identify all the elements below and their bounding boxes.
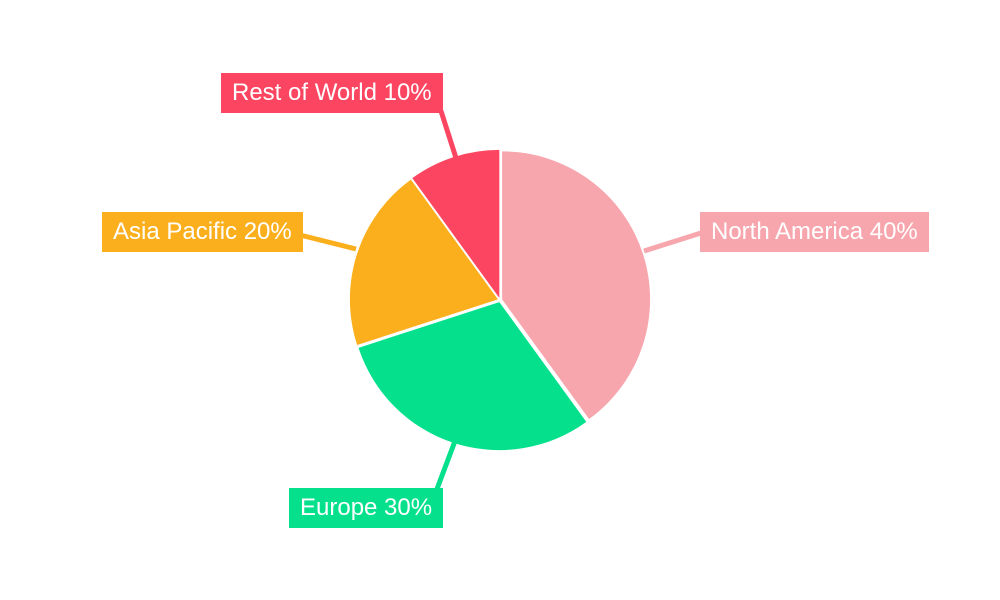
pie-chart-figure: North America 40% Europe 30% Asia Pacifi… bbox=[0, 0, 1000, 600]
pie-label-europe: Europe 30% bbox=[289, 488, 443, 528]
pie-label-rest-of-world: Rest of World 10% bbox=[221, 73, 443, 113]
pie-chart-canvas bbox=[0, 0, 1000, 600]
pie-label-asia-pacific: Asia Pacific 20% bbox=[102, 212, 303, 252]
pie-label-north-america: North America 40% bbox=[700, 212, 929, 252]
chart-background bbox=[0, 0, 1000, 600]
